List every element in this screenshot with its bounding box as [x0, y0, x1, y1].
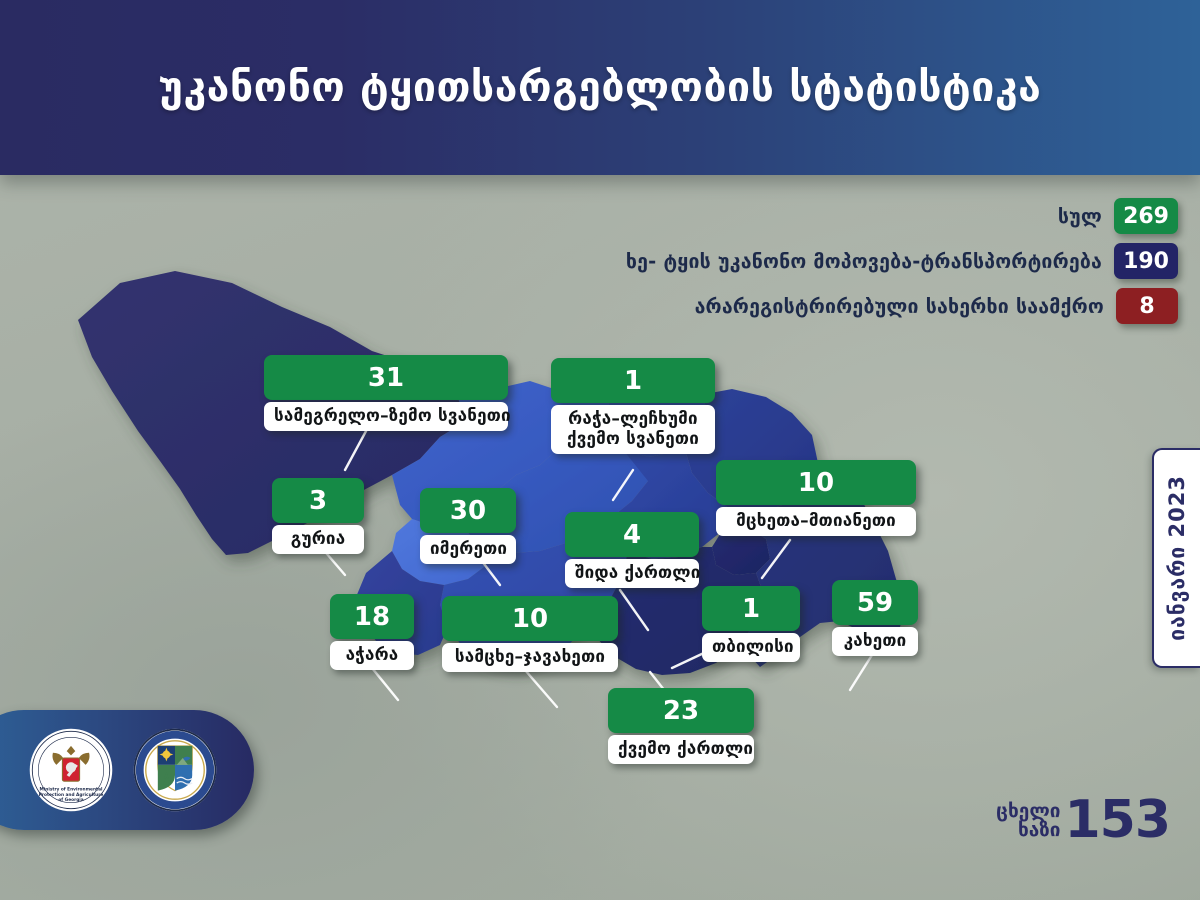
legend-value-total: 269 — [1114, 198, 1178, 234]
logo-pill: Ministry of Environmental Protection and… — [0, 710, 254, 830]
legend-row-sawmill: არარეგისტრირებული სახერხი საამქრო 8 — [695, 288, 1178, 324]
marker-samegrelo[interactable]: 31 სამეგრელო–ზემო სვანეთი — [264, 355, 508, 431]
marker-samtskhe[interactable]: 10 სამცხე–ჯავახეთი — [442, 596, 618, 672]
marker-label-adjara: აჭარა — [330, 641, 414, 670]
marker-value-mtskheta: 10 — [716, 460, 916, 505]
marker-label-tbilisi: თბილისი — [702, 633, 800, 662]
marker-value-adjara: 18 — [330, 594, 414, 639]
marker-adjara[interactable]: 18 აჭარა — [330, 594, 414, 670]
legend-row-logging: ხე- ტყის უკანონო მოპოვება-ტრანსპორტირება… — [626, 243, 1178, 279]
marker-kakheti[interactable]: 59 კახეთი — [832, 580, 918, 656]
marker-label-mtskheta: მცხეთა–მთიანეთი — [716, 507, 916, 536]
date-tab-label: იანვარი 2023 — [1165, 475, 1189, 641]
marker-value-kvemo: 23 — [608, 688, 754, 733]
page-title: უკანონო ტყითსარგებლობის სტატისტიკა — [159, 67, 1042, 108]
legend-value-logging: 190 — [1114, 243, 1178, 279]
marker-label-shida: შიდა ქართლი — [565, 559, 699, 588]
marker-guria[interactable]: 3 გურია — [272, 478, 364, 554]
svg-text:of Georgia: of Georgia — [58, 797, 83, 803]
marker-value-racha: 1 — [551, 358, 715, 403]
legend: სულ 269 ხე- ტყის უკანონო მოპოვება-ტრანსპ… — [626, 198, 1178, 324]
svg-text:Protection and Agriculture: Protection and Agriculture — [39, 792, 104, 798]
marker-value-samegrelo: 31 — [264, 355, 508, 400]
marker-label-kvemo: ქვემო ქართლი — [608, 735, 754, 764]
legend-label-total: სულ — [1058, 205, 1102, 228]
legend-row-total: სულ 269 — [1058, 198, 1178, 234]
legend-label-sawmill: არარეგისტრირებული სახერხი საამქრო — [695, 295, 1104, 318]
infographic-root: უკანონო ტყითსარგებლობის სტატისტიკა სულ 2… — [0, 0, 1200, 900]
marker-kvemo[interactable]: 23 ქვემო ქართლი — [608, 688, 754, 764]
marker-value-tbilisi: 1 — [702, 586, 800, 631]
hotline-number: 153 — [1064, 797, 1170, 845]
marker-shida[interactable]: 4 შიდა ქართლი — [565, 512, 699, 588]
marker-label-racha: რაჭა–ლეჩხუმი ქვემო სვანეთი — [551, 405, 715, 454]
marker-value-imereti: 30 — [420, 488, 516, 533]
marker-value-guria: 3 — [272, 478, 364, 523]
marker-label-imereti: იმერეთი — [420, 535, 516, 564]
marker-imereti[interactable]: 30 იმერეთი — [420, 488, 516, 564]
legend-value-sawmill: 8 — [1116, 288, 1178, 324]
marker-label-samegrelo: სამეგრელო–ზემო სვანეთი — [264, 402, 508, 431]
marker-tbilisi[interactable]: 1 თბილისი — [702, 586, 800, 662]
agency-seal-icon — [132, 727, 218, 813]
hotline-line2: ხაზი — [996, 821, 1060, 840]
marker-label-guria: გურია — [272, 525, 364, 554]
date-tab: იანვარი 2023 — [1152, 448, 1200, 668]
marker-label-kakheti: კახეთი — [832, 627, 918, 656]
marker-value-shida: 4 — [565, 512, 699, 557]
ministry-seal-icon: Ministry of Environmental Protection and… — [28, 727, 114, 813]
legend-label-logging: ხე- ტყის უკანონო მოპოვება-ტრანსპორტირება — [626, 250, 1102, 273]
hotline-words: ცხელი ხაზი — [996, 802, 1060, 840]
marker-value-kakheti: 59 — [832, 580, 918, 625]
marker-label-samtskhe: სამცხე–ჯავახეთი — [442, 643, 618, 672]
marker-mtskheta[interactable]: 10 მცხეთა–მთიანეთი — [716, 460, 916, 536]
svg-text:Ministry of Environmental: Ministry of Environmental — [40, 787, 103, 793]
marker-racha[interactable]: 1 რაჭა–ლეჩხუმი ქვემო სვანეთი — [551, 358, 715, 454]
marker-value-samtskhe: 10 — [442, 596, 618, 641]
hotline: ცხელი ხაზი 153 — [996, 797, 1170, 845]
header-banner: უკანონო ტყითსარგებლობის სტატისტიკა — [0, 0, 1200, 175]
